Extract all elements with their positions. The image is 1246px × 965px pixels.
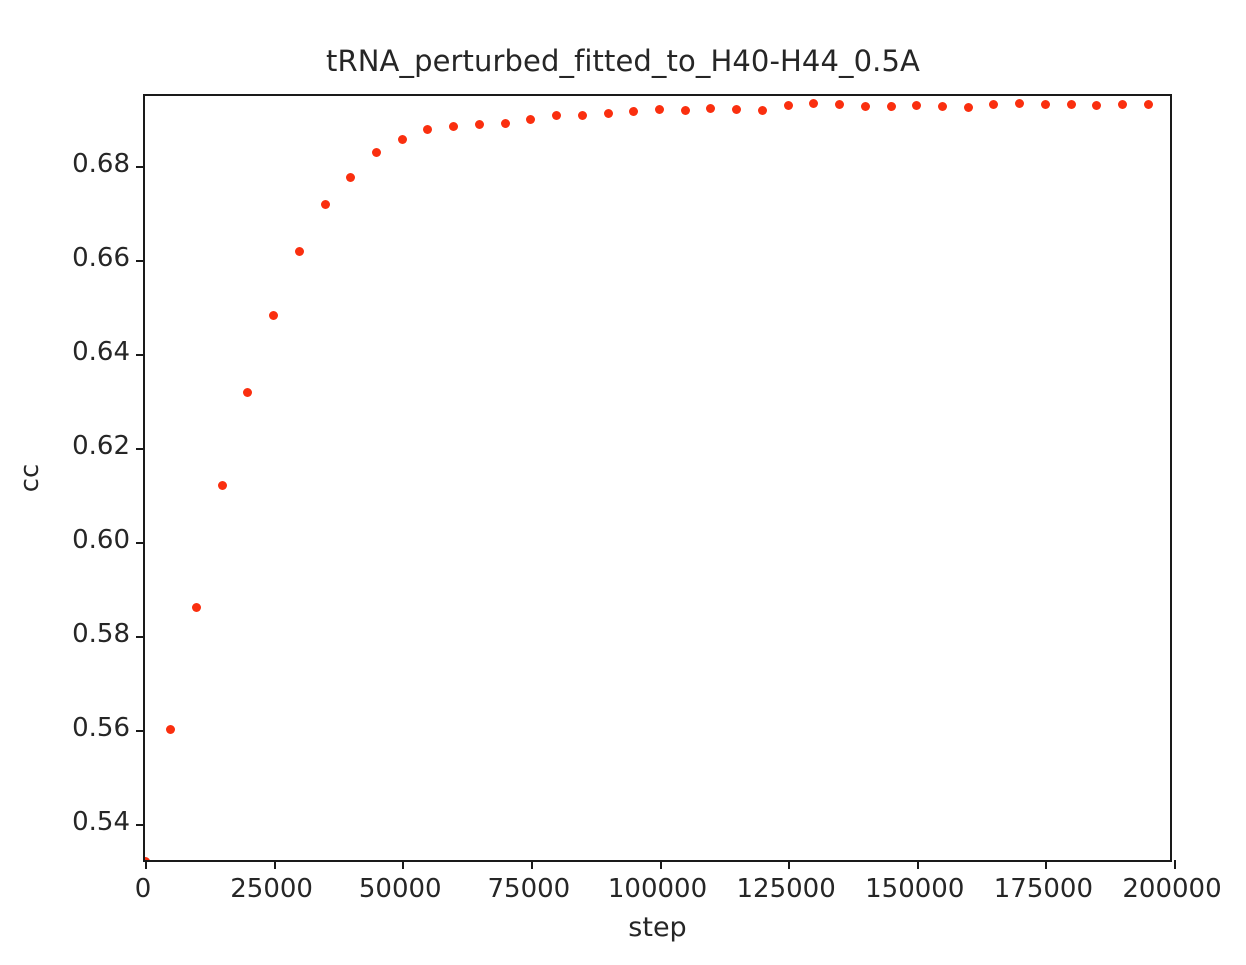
chart-title: tRNA_perturbed_fitted_to_H40-H44_0.5A bbox=[0, 44, 1246, 78]
data-point bbox=[938, 102, 947, 111]
data-point bbox=[887, 102, 896, 111]
x-tick-label: 150000 bbox=[865, 874, 964, 904]
data-point bbox=[629, 107, 638, 116]
data-point bbox=[1041, 100, 1050, 109]
data-point bbox=[706, 104, 715, 113]
x-tick-mark bbox=[145, 860, 147, 869]
x-tick-mark bbox=[788, 860, 790, 869]
data-point bbox=[192, 603, 201, 612]
data-point bbox=[681, 106, 690, 115]
data-point bbox=[423, 125, 432, 134]
y-tick-mark bbox=[136, 730, 145, 732]
data-point bbox=[809, 99, 818, 108]
y-tick-label: 0.58 bbox=[40, 619, 130, 649]
data-point bbox=[526, 115, 535, 124]
y-tick-label: 0.62 bbox=[40, 431, 130, 461]
data-point bbox=[1092, 101, 1101, 110]
data-point bbox=[501, 119, 510, 128]
y-tick-label: 0.56 bbox=[40, 713, 130, 743]
data-point bbox=[243, 388, 252, 397]
data-point bbox=[1144, 100, 1153, 109]
y-axis-label-text: cc bbox=[15, 464, 45, 493]
x-tick-mark bbox=[660, 860, 662, 869]
data-point bbox=[269, 311, 278, 320]
data-point bbox=[475, 120, 484, 129]
y-tick-label: 0.54 bbox=[40, 807, 130, 837]
y-tick-mark bbox=[136, 354, 145, 356]
plot-axes bbox=[143, 94, 1172, 862]
data-point bbox=[1118, 100, 1127, 109]
y-tick-mark bbox=[136, 166, 145, 168]
data-point bbox=[578, 111, 587, 120]
y-tick-mark bbox=[136, 260, 145, 262]
data-point bbox=[166, 725, 175, 734]
data-point bbox=[912, 101, 921, 110]
data-point bbox=[398, 135, 407, 144]
data-point bbox=[604, 109, 613, 118]
y-tick-mark bbox=[136, 542, 145, 544]
x-tick-label: 75000 bbox=[488, 874, 571, 904]
x-tick-mark bbox=[917, 860, 919, 869]
data-point bbox=[758, 106, 767, 115]
figure-canvas: tRNA_perturbed_fitted_to_H40-H44_0.5A cc… bbox=[0, 0, 1246, 965]
data-point bbox=[1067, 100, 1076, 109]
data-point bbox=[321, 200, 330, 209]
x-tick-mark bbox=[1045, 860, 1047, 869]
x-tick-label: 125000 bbox=[736, 874, 835, 904]
data-point bbox=[295, 247, 304, 256]
scatter-series bbox=[145, 96, 1170, 860]
data-point bbox=[449, 122, 458, 131]
x-tick-mark bbox=[531, 860, 533, 869]
y-tick-mark bbox=[136, 448, 145, 450]
y-tick-label: 0.60 bbox=[40, 525, 130, 555]
x-tick-label: 175000 bbox=[994, 874, 1093, 904]
y-tick-label: 0.66 bbox=[40, 243, 130, 273]
y-tick-label: 0.68 bbox=[40, 149, 130, 179]
data-point bbox=[552, 111, 561, 120]
x-tick-mark bbox=[1174, 860, 1176, 869]
data-point bbox=[1170, 99, 1171, 108]
y-tick-mark bbox=[136, 636, 145, 638]
data-point bbox=[989, 100, 998, 109]
data-point bbox=[1015, 99, 1024, 108]
data-point bbox=[784, 101, 793, 110]
y-tick-mark bbox=[136, 824, 145, 826]
y-tick-label: 0.64 bbox=[40, 337, 130, 367]
x-tick-mark bbox=[402, 860, 404, 869]
data-point bbox=[964, 103, 973, 112]
data-point bbox=[346, 173, 355, 182]
x-tick-label: 0 bbox=[135, 874, 152, 904]
data-point bbox=[732, 105, 741, 114]
data-point bbox=[861, 102, 870, 111]
data-point bbox=[835, 100, 844, 109]
data-point bbox=[218, 481, 227, 490]
data-point bbox=[655, 105, 664, 114]
x-tick-label: 50000 bbox=[359, 874, 442, 904]
x-axis-label: step bbox=[143, 912, 1172, 943]
x-tick-label: 25000 bbox=[230, 874, 313, 904]
data-point bbox=[372, 148, 381, 157]
x-tick-label: 200000 bbox=[1122, 874, 1221, 904]
x-tick-label: 100000 bbox=[608, 874, 707, 904]
x-tick-mark bbox=[274, 860, 276, 869]
